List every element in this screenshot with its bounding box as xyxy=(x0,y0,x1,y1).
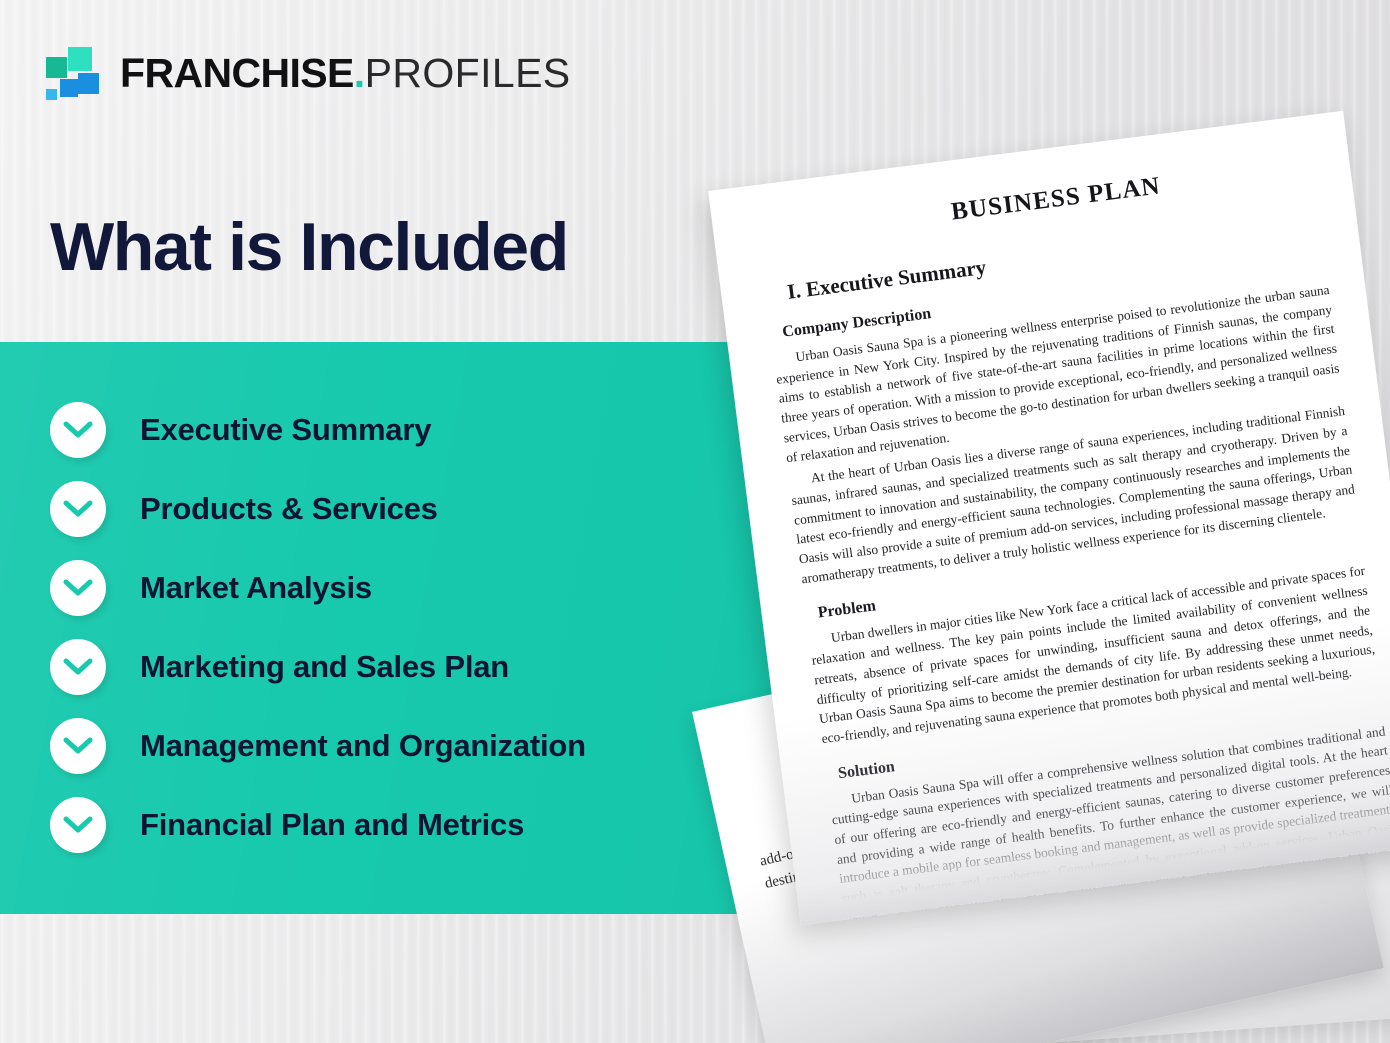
list-item[interactable]: Products & Services xyxy=(50,477,750,540)
page-shading xyxy=(708,111,1390,925)
list-item-label: Executive Summary xyxy=(140,412,431,448)
document-paragraph: Urban Oasis Sauna Spa will offer a compr… xyxy=(828,721,1390,925)
document-paragraph: Urban dwellers in major cities like New … xyxy=(808,561,1378,748)
chevron-down-icon[interactable] xyxy=(50,639,106,695)
document-title: BUSINESS PLAN xyxy=(796,153,1315,246)
chevron-down-icon[interactable] xyxy=(50,797,106,853)
five-squares-logo-icon xyxy=(46,47,102,99)
document-subheading: Solution xyxy=(837,696,1383,783)
logo-square-blue-mid xyxy=(60,79,78,97)
document-section-heading: I. Executive Summary xyxy=(786,213,1323,305)
page-bottom-fade xyxy=(793,785,1390,925)
document-page-front: BUSINESS PLAN I. Executive Summary Compa… xyxy=(708,111,1390,925)
list-item-label: Market Analysis xyxy=(140,570,372,606)
chevron-down-icon[interactable] xyxy=(50,402,106,458)
list-item-label: Financial Plan and Metrics xyxy=(140,807,524,843)
chevron-down-icon[interactable] xyxy=(50,481,106,537)
logo-square-blue-small xyxy=(46,89,57,100)
brand-name-light: PROFILES xyxy=(365,53,571,94)
included-items-list: Executive Summary Products & Services Ma… xyxy=(50,398,750,872)
slide-canvas: FRANCHISE . PROFILES What is Included Ex… xyxy=(0,0,1390,1043)
brand-logo[interactable]: FRANCHISE . PROFILES xyxy=(46,42,571,104)
background-page-text: add-on services, Urban Oasis Sauna Spa w… xyxy=(758,734,1295,895)
list-item[interactable]: Management and Organization xyxy=(50,714,750,777)
logo-square-teal-dark xyxy=(46,57,67,78)
list-item[interactable]: Marketing and Sales Plan xyxy=(50,635,750,698)
chevron-down-icon[interactable] xyxy=(50,718,106,774)
logo-square-teal-large xyxy=(68,47,92,71)
list-item[interactable]: Market Analysis xyxy=(50,556,750,619)
list-item[interactable]: Financial Plan and Metrics xyxy=(50,793,750,856)
document-content: BUSINESS PLAN I. Executive Summary Compa… xyxy=(757,153,1390,925)
brand-name-bold: FRANCHISE xyxy=(120,53,354,94)
logo-square-blue-large xyxy=(78,73,99,94)
document-page-back-2 xyxy=(999,685,1390,1043)
brand-name-dot: . xyxy=(354,53,365,94)
document-subheading: Company Description xyxy=(781,255,1327,342)
document-paragraph: Urban Oasis Sauna Spa is a pioneering we… xyxy=(773,280,1343,467)
document-subheading: Problem xyxy=(817,536,1363,623)
brand-wordmark: FRANCHISE . PROFILES xyxy=(120,53,571,94)
list-item-label: Products & Services xyxy=(140,491,438,527)
chevron-down-icon[interactable] xyxy=(50,560,106,616)
list-item-label: Marketing and Sales Plan xyxy=(140,649,509,685)
page-title: What is Included xyxy=(50,213,568,281)
document-paragraph: At the heart of Urban Oasis lies a diver… xyxy=(788,401,1358,588)
list-item[interactable]: Executive Summary xyxy=(50,398,750,461)
list-item-label: Management and Organization xyxy=(140,728,586,764)
